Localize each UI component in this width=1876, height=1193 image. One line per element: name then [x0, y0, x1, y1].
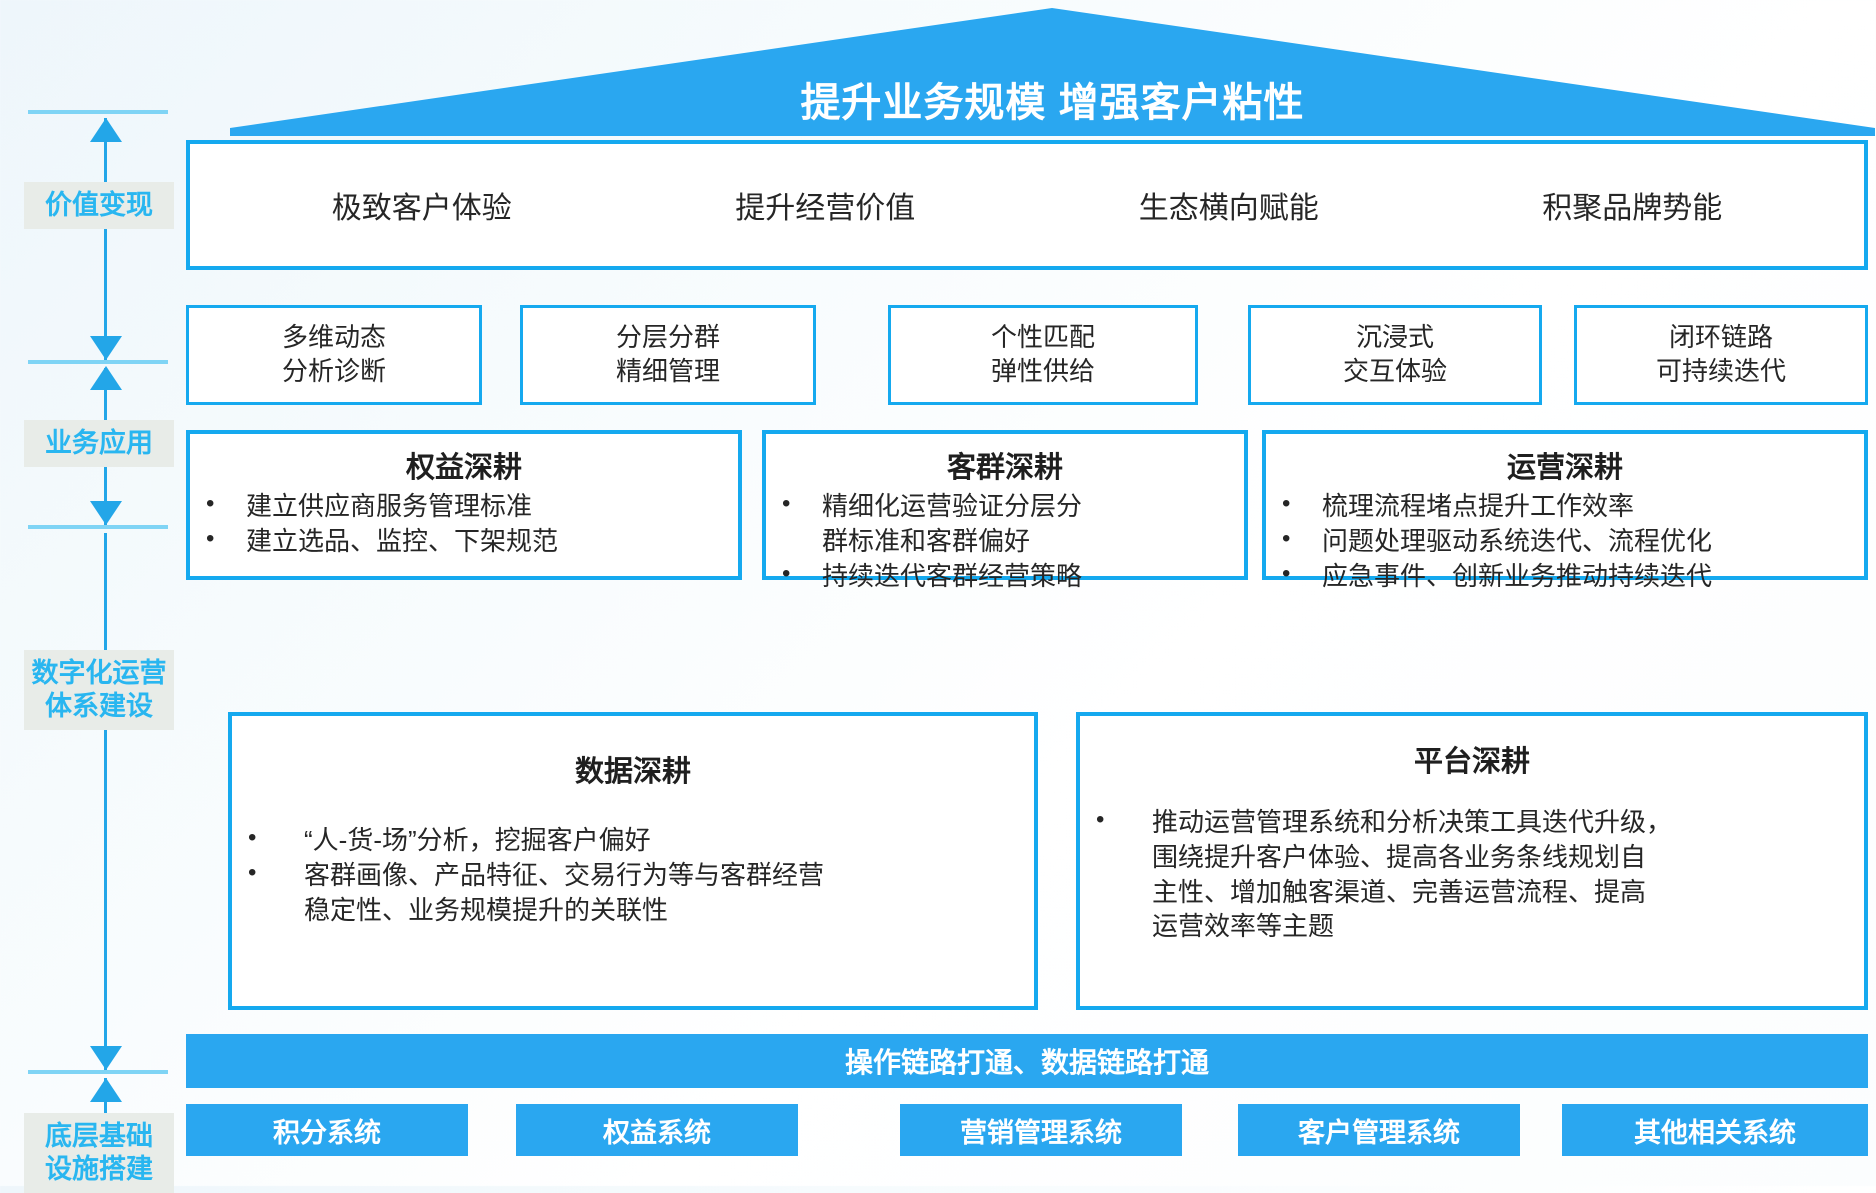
rail-level-value-realization[interactable]: 价值变现	[24, 182, 174, 229]
deep-card-operations[interactable]: 运营深耕 梳理流程堵点提升工作效率 问题处理驱动系统迭代、流程优化 应急事件、创…	[1262, 430, 1868, 580]
bullet-item-continuation: 围绕提升客户体验、提高各业务条线规划自	[1080, 841, 1864, 875]
bullet-item-continuation: 主性、增加触客渠道、完善运营流程、提高	[1080, 876, 1864, 910]
deep-card-rights[interactable]: 权益深耕 建立供应商服务管理标准 建立选品、监控、下架规范	[186, 430, 742, 580]
deep-card-bullets: 建立供应商服务管理标准 建立选品、监控、下架规范	[190, 490, 738, 559]
level-rail: 价值变现 业务应用 数字化运营 体系建设 底层基础 设施搭建	[18, 110, 178, 1175]
value-item-ecosystem-enablement[interactable]: 生态横向赋能	[1139, 183, 1319, 227]
bullet-item: 客群画像、产品特征、交易行为等与客群经营	[232, 859, 1034, 893]
deep-card-title: 平台深耕	[1080, 738, 1864, 780]
rail-tick-4	[28, 1070, 168, 1074]
value-item-customer-experience[interactable]: 极致客户体验	[332, 183, 512, 227]
rail-level-label: 价值变现	[24, 189, 174, 222]
bullet-item: 推动运营管理系统和分析决策工具迭代升级，	[1080, 806, 1864, 840]
deep-card-bullets: 推动运营管理系统和分析决策工具迭代升级， 围绕提升客户体验、提高各业务条线规划自…	[1080, 806, 1864, 944]
bullet-item: 持续迭代客群经营策略	[766, 560, 1244, 594]
deep-card-bullets: “人-货-场”分析，挖掘客户偏好 客群画像、产品特征、交易行为等与客群经营 稳定…	[232, 824, 1034, 927]
app-card-line1: 个性匹配	[991, 321, 1095, 355]
deep-card-bullets: 梳理流程堵点提升工作效率 问题处理驱动系统迭代、流程优化 应急事件、创新业务推动…	[1266, 490, 1864, 593]
rail-level-label-line1: 数字化运营	[24, 657, 174, 690]
app-card-line2: 弹性供给	[991, 355, 1095, 389]
rail-tick-3	[28, 525, 168, 529]
system-card-rights[interactable]: 权益系统	[516, 1104, 798, 1156]
rail-tick-2	[28, 360, 168, 364]
deep-card-title: 运营深耕	[1266, 444, 1864, 486]
deep-card-customer-group[interactable]: 客群深耕 精细化运营验证分层分 群标准和客群偏好 持续迭代客群经营策略	[762, 430, 1248, 580]
rail-level-label-line2: 体系建设	[24, 690, 174, 723]
bullet-item: 建立选品、监控、下架规范	[190, 525, 738, 559]
rail-tick-top	[28, 110, 168, 114]
rail-level-label: 业务应用	[24, 427, 174, 460]
app-card-line1: 分层分群	[616, 321, 720, 355]
system-card-label: 营销管理系统	[960, 1111, 1122, 1150]
deep-card-platform[interactable]: 平台深耕 推动运营管理系统和分析决策工具迭代升级， 围绕提升客户体验、提高各业务…	[1076, 712, 1868, 1010]
system-card-label: 权益系统	[603, 1111, 711, 1150]
rail-level-infrastructure[interactable]: 底层基础 设施搭建	[24, 1113, 174, 1193]
system-card-other[interactable]: 其他相关系统	[1562, 1104, 1868, 1156]
rail-level-business-application[interactable]: 业务应用	[24, 420, 174, 467]
app-card-line2: 分析诊断	[282, 355, 386, 389]
roof-shape: 提升业务规模 增强客户粘性	[230, 8, 1875, 136]
deep-card-bullets: 精细化运营验证分层分 群标准和客群偏好 持续迭代客群经营策略	[766, 490, 1244, 593]
value-item-business-value[interactable]: 提升经营价值	[735, 183, 915, 227]
system-card-customer[interactable]: 客户管理系统	[1238, 1104, 1520, 1156]
app-card-line2: 可持续迭代	[1656, 355, 1786, 389]
bullet-item: “人-货-场”分析，挖掘客户偏好	[232, 824, 1034, 858]
bullet-item-continuation: 稳定性、业务规模提升的关联性	[232, 894, 1034, 928]
bullet-item: 精细化运营验证分层分	[766, 490, 1244, 524]
app-card-multidimensional-analysis[interactable]: 多维动态 分析诊断	[186, 305, 482, 405]
diagram-canvas: 提升业务规模 增强客户粘性 价值变现 业务应用 数字化运营 体系建设	[0, 0, 1876, 1186]
app-card-closed-loop-iteration[interactable]: 闭环链路 可持续迭代	[1574, 305, 1868, 405]
rail-level-label-line1: 底层基础	[24, 1120, 174, 1153]
system-card-label: 其他相关系统	[1634, 1111, 1796, 1150]
bullet-item-continuation: 运营效率等主题	[1080, 910, 1864, 944]
system-card-label: 积分系统	[273, 1111, 381, 1150]
app-card-immersive-interaction[interactable]: 沉浸式 交互体验	[1248, 305, 1542, 405]
rail-arrow-up-2	[90, 366, 122, 390]
rail-arrow-up-3	[90, 1078, 122, 1102]
deep-card-data[interactable]: 数据深耕 “人-货-场”分析，挖掘客户偏好 客群画像、产品特征、交易行为等与客群…	[228, 712, 1038, 1010]
app-card-line2: 交互体验	[1343, 355, 1447, 389]
rail-level-label-line2: 设施搭建	[24, 1153, 174, 1186]
app-card-line1: 沉浸式	[1356, 321, 1434, 355]
system-card-points[interactable]: 积分系统	[186, 1104, 468, 1156]
bullet-item: 建立供应商服务管理标准	[190, 490, 738, 524]
bullet-item: 应急事件、创新业务推动持续迭代	[1266, 560, 1864, 594]
deep-card-title: 权益深耕	[190, 444, 738, 486]
infrastructure-bar-label: 操作链路打通、数据链路打通	[845, 1041, 1209, 1081]
rail-arrow-up-1	[90, 118, 122, 142]
app-card-line1: 多维动态	[282, 321, 386, 355]
deep-card-title: 数据深耕	[232, 748, 1034, 790]
rail-level-digital-operation[interactable]: 数字化运营 体系建设	[24, 650, 174, 730]
app-card-segmentation-management[interactable]: 分层分群 精细管理	[520, 305, 816, 405]
bullet-item-continuation: 群标准和客群偏好	[766, 525, 1244, 559]
value-item-brand-momentum[interactable]: 积聚品牌势能	[1542, 183, 1722, 227]
system-card-marketing[interactable]: 营销管理系统	[900, 1104, 1182, 1156]
roof-triangle-icon	[230, 8, 1875, 136]
rail-stem-3	[104, 533, 107, 1070]
system-card-label: 客户管理系统	[1298, 1111, 1460, 1150]
rail-stem-1	[104, 118, 107, 360]
rail-arrow-down-2	[90, 501, 122, 525]
value-realization-box: 极致客户体验 提升经营价值 生态横向赋能 积聚品牌势能	[186, 140, 1868, 270]
rail-arrow-down-1	[90, 336, 122, 360]
bullet-item: 梳理流程堵点提升工作效率	[1266, 490, 1864, 524]
infrastructure-bar[interactable]: 操作链路打通、数据链路打通	[186, 1034, 1868, 1088]
bullet-item: 问题处理驱动系统迭代、流程优化	[1266, 525, 1864, 559]
app-card-personalized-matching[interactable]: 个性匹配 弹性供给	[888, 305, 1198, 405]
deep-card-title: 客群深耕	[766, 444, 1244, 486]
rail-arrow-down-3	[90, 1046, 122, 1070]
app-card-line1: 闭环链路	[1669, 321, 1773, 355]
app-card-line2: 精细管理	[616, 355, 720, 389]
